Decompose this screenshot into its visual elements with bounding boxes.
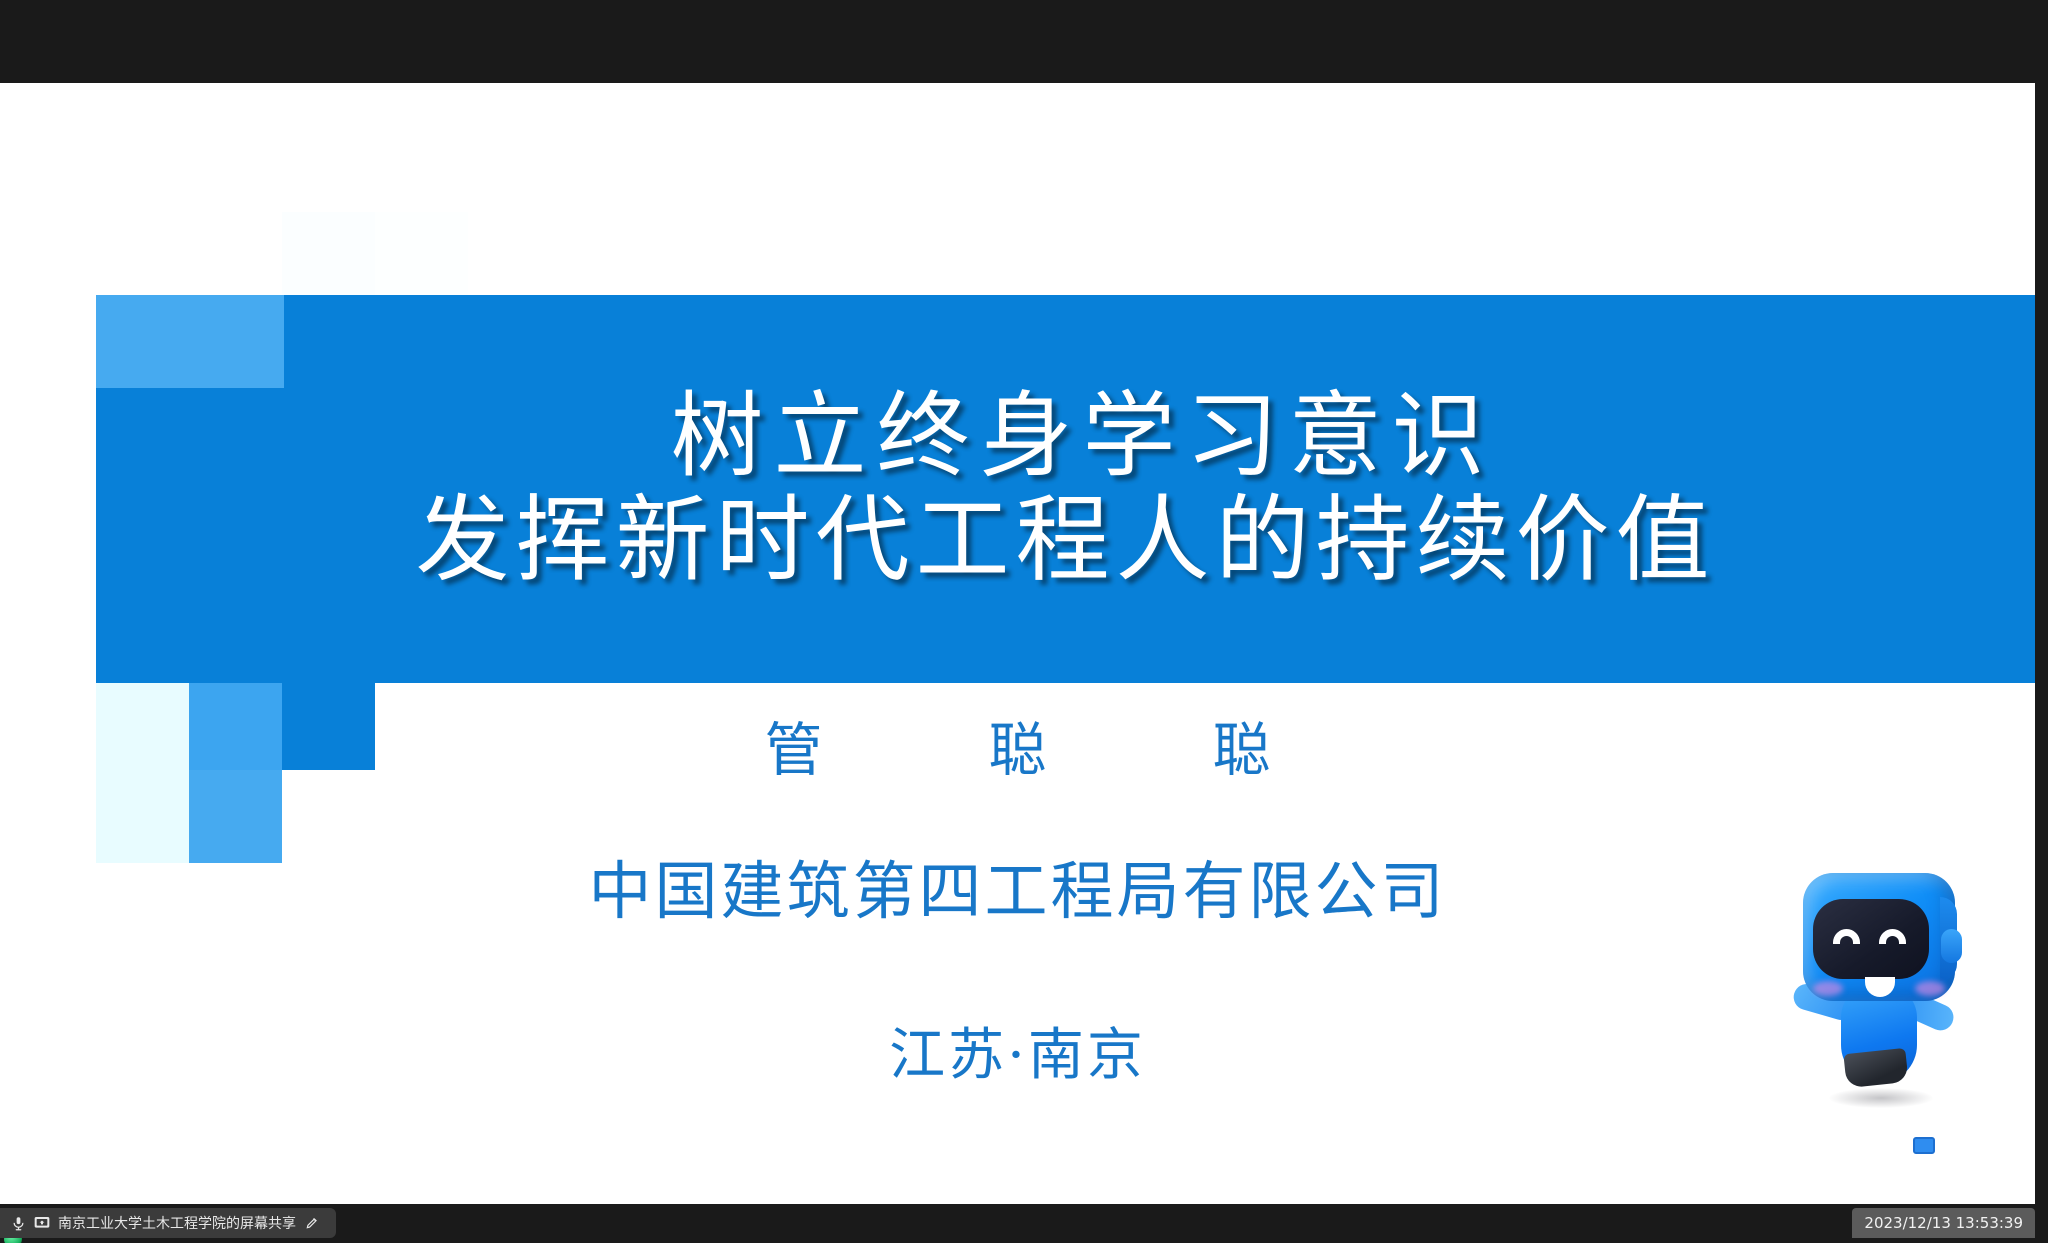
mosaic-cell	[375, 212, 468, 305]
pencil-icon[interactable]	[304, 1215, 320, 1231]
share-status-label: 南京工业大学土木工程学院的屏幕共享	[58, 1213, 296, 1233]
slide-byline: 管 聪 聪 中国建筑第四工程局有限公司 江苏·南京	[0, 703, 2035, 1091]
robot-foot	[1843, 1048, 1908, 1088]
robot-mascot-icon	[1787, 855, 1977, 1120]
robot-shadow	[1829, 1088, 1933, 1108]
timestamp-label: 2023/12/13 13:53:39	[1864, 1214, 2023, 1232]
robot-cheek-right	[1915, 981, 1945, 996]
organization-name: 中国建筑第四工程局有限公司	[589, 841, 1447, 932]
robot-chest-badge	[1913, 1137, 1935, 1154]
screen-share-icon[interactable]	[34, 1215, 50, 1231]
microphone-icon[interactable]	[10, 1215, 26, 1231]
robot-eye-right	[1879, 929, 1906, 944]
robot-face-screen	[1813, 899, 1929, 979]
robot-ear	[1941, 929, 1962, 963]
robot-cheek-left	[1813, 981, 1843, 996]
letterbox-bar-top	[0, 0, 2048, 83]
title-line-2: 发挥新时代工程人的持续价值	[415, 490, 1715, 592]
letterbox-bar-right	[2035, 0, 2048, 1243]
robot-eye-left	[1833, 929, 1860, 944]
robot-mouth	[1865, 977, 1895, 997]
mosaic-cell	[282, 212, 375, 305]
share-indicator-pill[interactable]: 南京工业大学土木工程学院的屏幕共享	[0, 1208, 336, 1238]
screen-share-viewport: 树立终身学习意识 发挥新时代工程人的持续价值 管 聪 聪 中国建筑第四工程局有限…	[0, 0, 2048, 1243]
title-line-1: 树立终身学习意识	[637, 386, 1495, 486]
clock-pill: 2023/12/13 13:53:39	[1852, 1208, 2035, 1238]
slide-title: 树立终身学习意识 发挥新时代工程人的持续价值	[96, 295, 2035, 683]
presenter-name: 管 聪 聪	[710, 703, 1324, 787]
robot-head	[1803, 873, 1955, 1001]
presentation-slide: 树立终身学习意识 发挥新时代工程人的持续价值 管 聪 聪 中国建筑第四工程局有限…	[0, 83, 2035, 1204]
location-name: 江苏·南京	[889, 1010, 1146, 1091]
title-band: 树立终身学习意识 发挥新时代工程人的持续价值	[96, 295, 2035, 683]
screen-share-status-bar: 南京工业大学土木工程学院的屏幕共享 2023/12/13 13:53:39	[0, 1204, 2048, 1243]
